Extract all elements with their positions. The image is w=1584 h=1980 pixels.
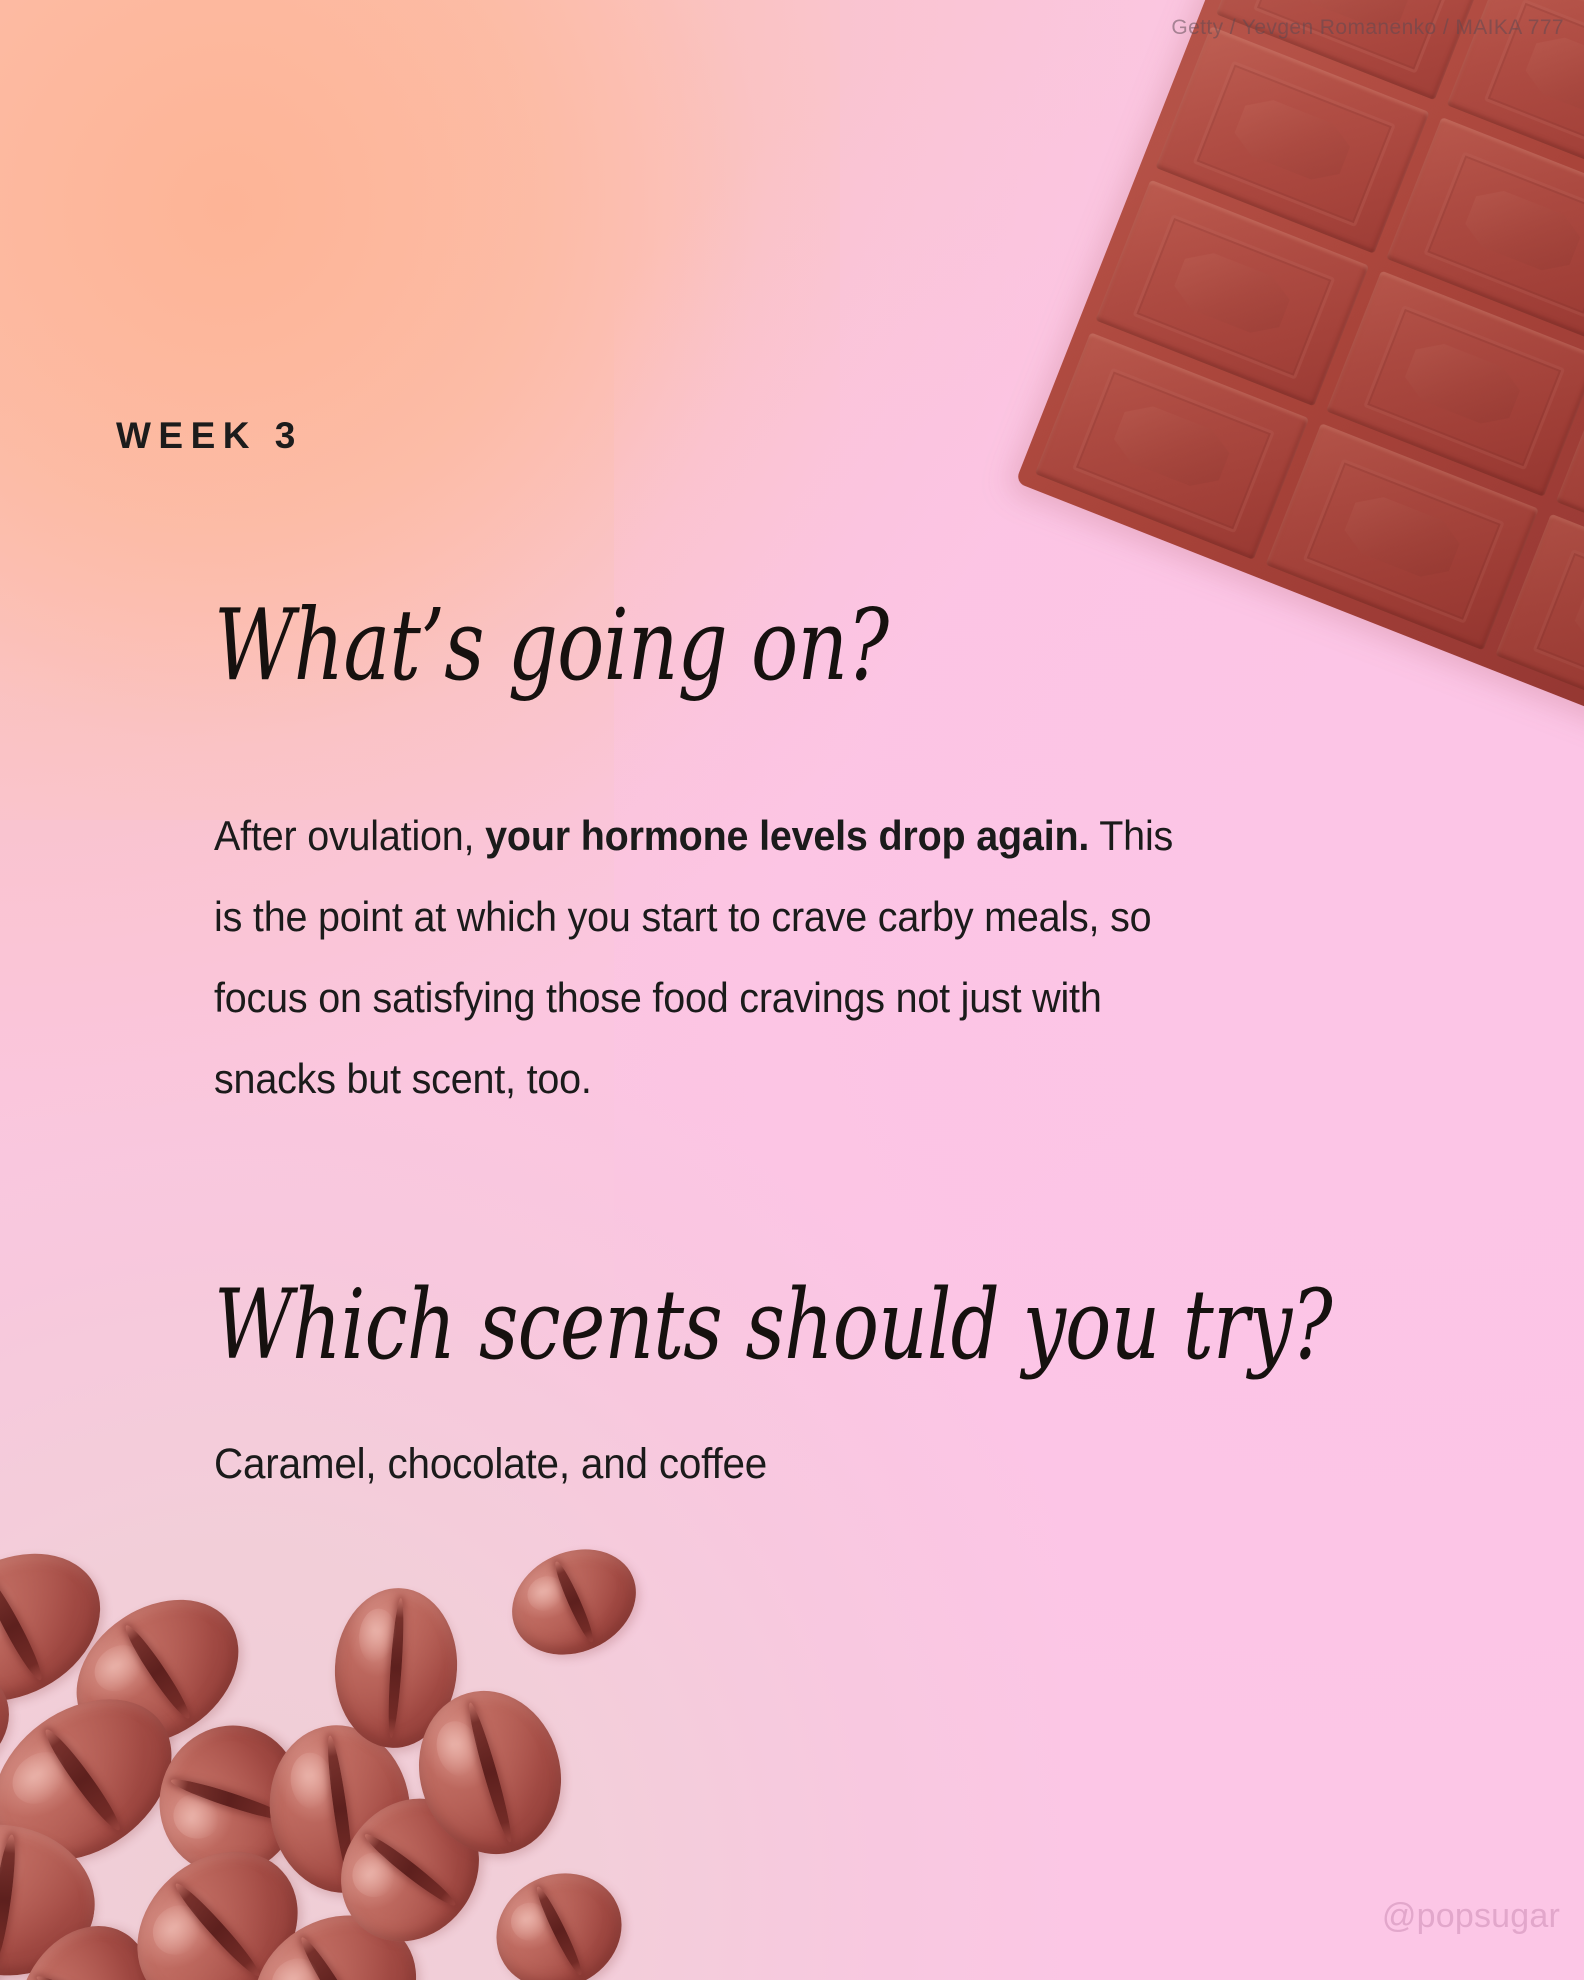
week-label: WEEK 3 bbox=[116, 415, 303, 457]
coffee-bean bbox=[477, 1853, 641, 1980]
body-emphasis: your hormone levels drop again. bbox=[485, 812, 1089, 859]
scents-answer: Caramel, chocolate, and coffee bbox=[214, 1440, 767, 1489]
body-paragraph: After ovulation, your hormone levels dro… bbox=[214, 795, 1206, 1119]
coffee-bean bbox=[495, 1530, 653, 1673]
page-title-whats-going-on: What’s going on? bbox=[214, 597, 888, 695]
social-card: Getty / Yevgen Romanenko / MAIKA 777 WEE… bbox=[0, 0, 1584, 1980]
photo-credit: Getty / Yevgen Romanenko / MAIKA 777 bbox=[1171, 16, 1564, 40]
coffee-beans-image bbox=[0, 1530, 640, 1980]
brand-watermark: @popsugar bbox=[1382, 1897, 1560, 1936]
body-lead: After ovulation, bbox=[214, 812, 485, 859]
page-title-which-scents: Which scents should you try? bbox=[214, 1277, 1332, 1373]
